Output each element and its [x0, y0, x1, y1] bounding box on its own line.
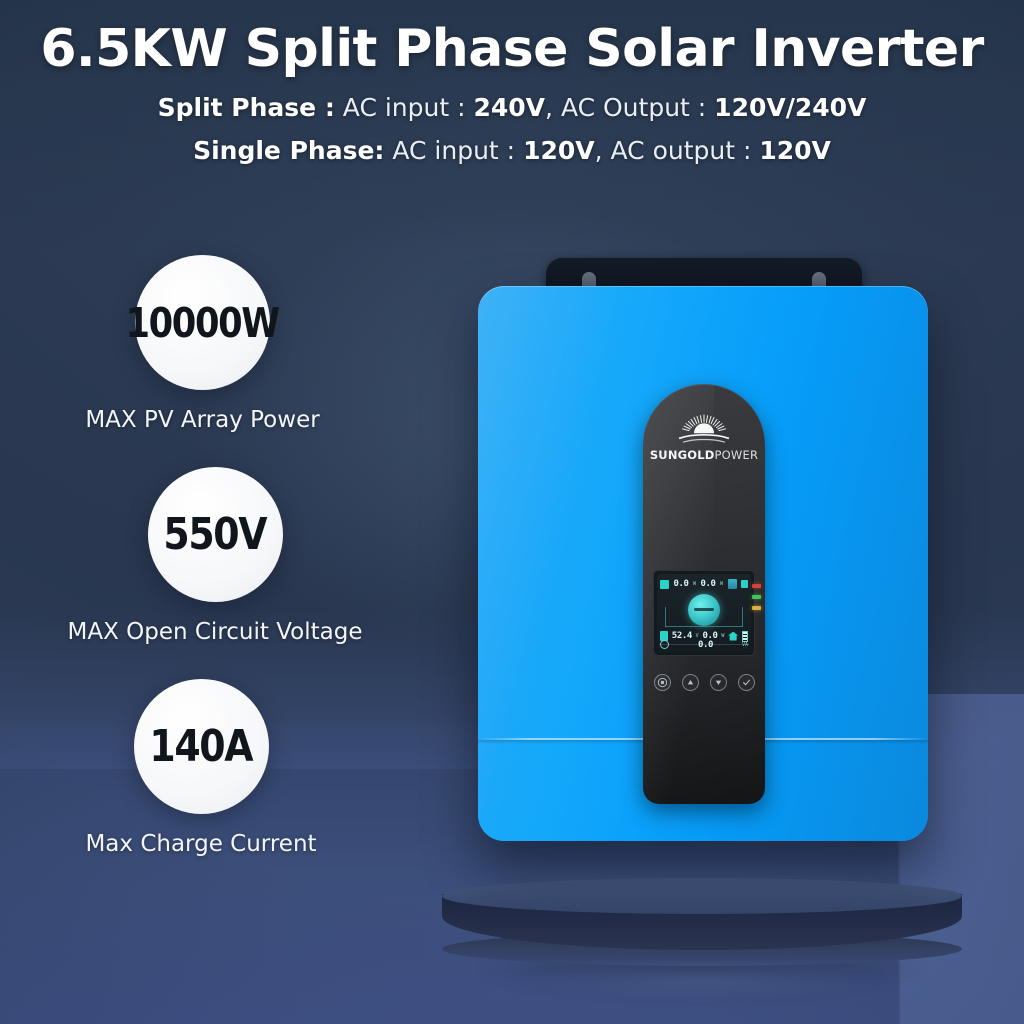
solar-inverter-product: SUNGOLDPOWER 0.0 W 0.0 W	[478, 258, 928, 898]
inverter-body: SUNGOLDPOWER 0.0 W 0.0 W	[478, 286, 928, 841]
status-ok-icon	[660, 640, 669, 649]
lcd-display[interactable]: 0.0 W 0.0 W 52.4	[653, 570, 755, 656]
fault-led	[752, 584, 761, 588]
lcd-pv-power-unit: W	[693, 581, 696, 587]
grid-icon	[728, 579, 737, 589]
feature-label-1: MAX PV Array Power	[0, 407, 420, 433]
spec-ac-input-value-2: 120V	[523, 136, 595, 165]
spec-ac-output-label-2: , AC output :	[595, 136, 752, 165]
lcd-wire-right	[742, 607, 743, 627]
down-button[interactable]	[710, 674, 727, 691]
lcd-pv-power: 0.0	[673, 579, 688, 589]
brand-logo: SUNGOLDPOWER	[643, 414, 765, 462]
feature-label-3: Max Charge Current	[0, 831, 420, 857]
pedestal-reflection	[456, 952, 948, 1008]
brand-name-bold: SUNGOLD	[650, 448, 715, 462]
status-led-group	[752, 584, 761, 610]
spec-line-single-phase: Single Phase: AC input : 120V, AC output…	[0, 137, 1024, 165]
spec-ac-input-value-1: 240V	[474, 93, 546, 122]
lcd-load-value: 0.0	[698, 640, 713, 650]
spec-ac-output-value-1: 120V/240V	[714, 93, 866, 122]
arrow-up-icon	[685, 677, 696, 688]
spec-label-split-phase: Split Phase :	[158, 93, 335, 122]
inverter-front-panel: SUNGOLDPOWER 0.0 W 0.0 W	[643, 384, 765, 804]
spec-ac-output-value-2: 120V	[759, 136, 831, 165]
enter-button[interactable]	[738, 674, 755, 691]
feature-max-charge-current: 140A Max Charge Current	[0, 679, 420, 857]
inverter-led	[752, 595, 761, 599]
lcd-bottom-row: 0.0 VA	[660, 638, 748, 651]
spec-ac-input-label-1: AC input :	[343, 93, 466, 122]
sunrise-icon	[643, 414, 765, 444]
brand-name-light: POWER	[715, 448, 759, 462]
charging-led	[752, 606, 761, 610]
check-icon	[741, 677, 752, 688]
lcd-top-row: 0.0 W 0.0 W	[660, 576, 748, 592]
feature-circle-3: 140A	[134, 679, 269, 814]
header: 6.5KW Split Phase Solar Inverter Split P…	[0, 22, 1024, 165]
up-button[interactable]	[682, 674, 699, 691]
target-icon	[657, 677, 668, 688]
brand-name: SUNGOLDPOWER	[643, 448, 765, 462]
settings-button[interactable]	[654, 674, 671, 691]
lcd-ac-input-unit: W	[720, 581, 723, 587]
product-hero-image: 6.5KW Split Phase Solar Inverter Split P…	[0, 0, 1024, 1024]
spec-ac-output-label-1: , AC Output :	[545, 93, 706, 122]
control-button-group	[643, 674, 765, 691]
lcd-screen: 0.0 W 0.0 W 52.4	[657, 574, 751, 652]
lcd-load-unit: VA	[742, 642, 748, 648]
feature-circle-2: 550V	[148, 467, 283, 602]
feature-list: 10000W MAX PV Array Power 550V MAX Open …	[0, 255, 420, 891]
feature-value-1: 10000W	[126, 299, 279, 347]
spec-ac-input-label-2: AC input :	[392, 136, 515, 165]
feature-value-3: 140A	[150, 721, 253, 772]
feature-max-open-circuit-voltage: 550V MAX Open Circuit Voltage	[10, 467, 420, 645]
spec-line-split-phase: Split Phase : AC input : 240V, AC Output…	[0, 94, 1024, 122]
feature-value-2: 550V	[164, 509, 267, 560]
lcd-wire-left	[665, 607, 666, 627]
lcd-wire-bottom	[665, 626, 743, 627]
inverter-core-icon	[688, 594, 720, 626]
arrow-down-icon	[713, 677, 724, 688]
feature-max-pv-array-power: 10000W MAX PV Array Power	[0, 255, 420, 433]
solar-panel-icon	[660, 580, 669, 589]
feature-circle-1: 10000W	[135, 255, 270, 390]
lcd-ac-input: 0.0	[700, 579, 715, 589]
ac-icon	[741, 580, 748, 588]
page-title: 6.5KW Split Phase Solar Inverter	[0, 22, 1024, 77]
feature-label-2: MAX Open Circuit Voltage	[10, 619, 420, 645]
spec-label-single-phase: Single Phase:	[193, 136, 384, 165]
